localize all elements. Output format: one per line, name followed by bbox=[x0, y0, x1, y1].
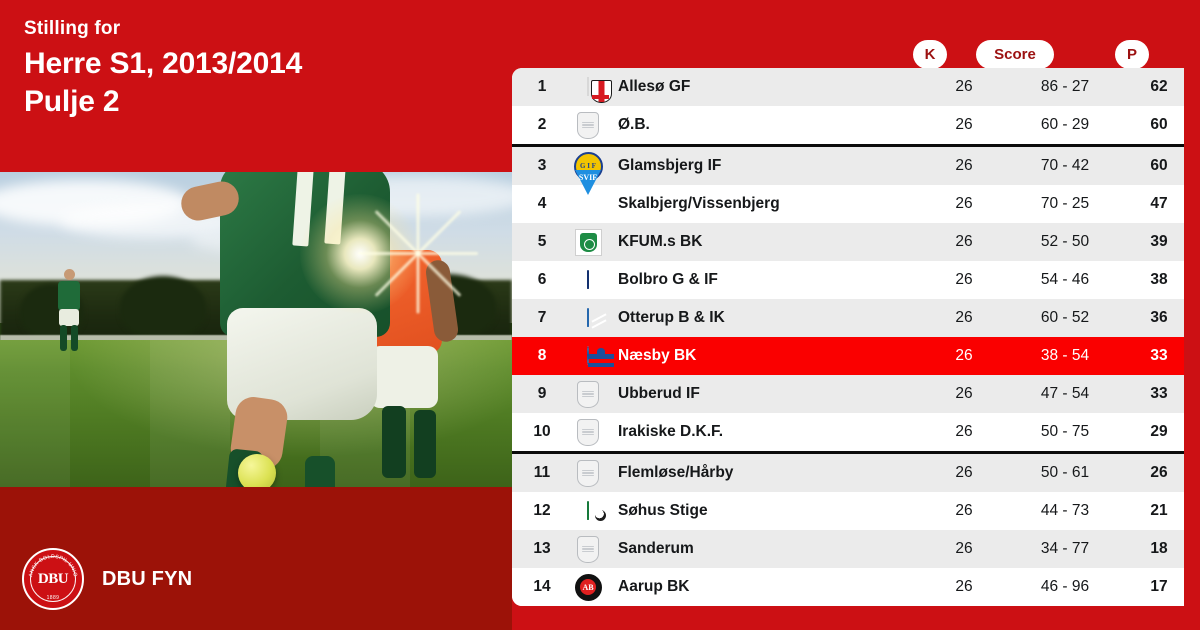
row-position: 1 bbox=[512, 68, 566, 106]
standings-body: 1Allesø GF2686 - 27622Ø.B.2660 - 29603G … bbox=[512, 68, 1184, 606]
row-score: 70 - 42 bbox=[1010, 146, 1120, 186]
dbu-logo-icon: DANSK BOLDSPIL UNION DBU 1889 bbox=[22, 548, 84, 610]
row-points: 39 bbox=[1120, 223, 1184, 261]
placeholder-crest bbox=[577, 536, 599, 563]
brand-logo-row: DANSK BOLDSPIL UNION DBU 1889 DBU FYN bbox=[22, 548, 192, 610]
logo-year: 1889 bbox=[24, 595, 82, 601]
row-team-name: Otterup B & IK bbox=[610, 299, 918, 337]
row-points: 60 bbox=[1120, 106, 1184, 146]
row-score: 52 - 50 bbox=[1010, 223, 1120, 261]
row-team-name: KFUM.s BK bbox=[610, 223, 918, 261]
row-score: 60 - 29 bbox=[1010, 106, 1120, 146]
table-row[interactable]: 14ABAarup BK2646 - 9617 bbox=[512, 568, 1184, 606]
player-shirt bbox=[58, 281, 80, 311]
row-matches: 26 bbox=[918, 68, 1010, 106]
background-player bbox=[52, 267, 86, 353]
placeholder-crest bbox=[577, 112, 599, 139]
row-matches: 26 bbox=[918, 261, 1010, 299]
brand-name: DBU FYN bbox=[102, 568, 192, 591]
left-pane: Stilling for Herre S1, 2013/2014 Pulje 2 bbox=[0, 0, 512, 630]
row-team-name: Næsby BK bbox=[610, 337, 918, 375]
bolbro-crest bbox=[587, 270, 589, 289]
page-title-line1: Herre S1, 2013/2014 bbox=[24, 45, 494, 83]
svg-text:DANSK BOLDSPIL UNION: DANSK BOLDSPIL UNION bbox=[24, 550, 78, 577]
row-matches: 26 bbox=[918, 223, 1010, 261]
row-crest bbox=[566, 453, 610, 493]
row-score: 86 - 27 bbox=[1010, 68, 1120, 106]
skalbjerg-crest: SVIF bbox=[575, 170, 601, 212]
row-team-name: Irakiske D.K.F. bbox=[610, 413, 918, 453]
row-score: 54 - 46 bbox=[1010, 261, 1120, 299]
row-points: 38 bbox=[1120, 261, 1184, 299]
row-team-name: Allesø GF bbox=[610, 68, 918, 106]
table-row[interactable]: 6Bolbro G & IF2654 - 4638 bbox=[512, 261, 1184, 299]
row-matches: 26 bbox=[918, 530, 1010, 568]
row-crest bbox=[566, 530, 610, 568]
player-leg bbox=[71, 325, 78, 351]
kfum-crest bbox=[575, 229, 602, 256]
row-team-name: Flemløse/Hårby bbox=[610, 453, 918, 493]
table-row[interactable]: 13Sanderum2634 - 7718 bbox=[512, 530, 1184, 568]
row-points: 33 bbox=[1120, 375, 1184, 413]
row-matches: 26 bbox=[918, 375, 1010, 413]
row-position: 6 bbox=[512, 261, 566, 299]
row-crest bbox=[566, 299, 610, 337]
row-matches: 26 bbox=[918, 337, 1010, 375]
row-team-name: Sanderum bbox=[610, 530, 918, 568]
row-points: 33 bbox=[1120, 337, 1184, 375]
row-matches: 26 bbox=[918, 106, 1010, 146]
row-matches: 26 bbox=[918, 492, 1010, 530]
player-head bbox=[64, 269, 75, 280]
row-score: 44 - 73 bbox=[1010, 492, 1120, 530]
row-crest bbox=[566, 223, 610, 261]
standings-table: 1Allesø GF2686 - 27622Ø.B.2660 - 29603G … bbox=[512, 68, 1184, 606]
table-row[interactable]: 7Otterup B & IK2660 - 5236 bbox=[512, 299, 1184, 337]
row-position: 9 bbox=[512, 375, 566, 413]
row-points: 18 bbox=[1120, 530, 1184, 568]
row-points: 29 bbox=[1120, 413, 1184, 453]
row-position: 3 bbox=[512, 146, 566, 186]
row-crest bbox=[566, 492, 610, 530]
row-team-name: Skalbjerg/Vissenbjerg bbox=[610, 185, 918, 223]
table-row[interactable]: 8Næsby BK2638 - 5433 bbox=[512, 337, 1184, 375]
row-position: 10 bbox=[512, 413, 566, 453]
placeholder-crest bbox=[577, 460, 599, 487]
row-score: 60 - 52 bbox=[1010, 299, 1120, 337]
table-row[interactable]: 2Ø.B.2660 - 2960 bbox=[512, 106, 1184, 146]
row-crest: AB bbox=[566, 568, 610, 606]
player-sock bbox=[305, 456, 335, 487]
row-crest bbox=[566, 68, 610, 106]
row-matches: 26 bbox=[918, 299, 1010, 337]
row-matches: 26 bbox=[918, 453, 1010, 493]
row-matches: 26 bbox=[918, 185, 1010, 223]
row-team-name: Ubberud IF bbox=[610, 375, 918, 413]
row-crest bbox=[566, 106, 610, 146]
row-position: 12 bbox=[512, 492, 566, 530]
row-position: 8 bbox=[512, 337, 566, 375]
row-crest bbox=[566, 261, 610, 299]
placeholder-crest bbox=[577, 381, 599, 408]
row-position: 13 bbox=[512, 530, 566, 568]
row-points: 47 bbox=[1120, 185, 1184, 223]
row-crest: SVIF bbox=[566, 185, 610, 223]
otterup-crest bbox=[587, 308, 589, 327]
row-matches: 26 bbox=[918, 568, 1010, 606]
row-matches: 26 bbox=[918, 413, 1010, 453]
aarup-crest: AB bbox=[575, 574, 602, 601]
sohus-crest bbox=[587, 501, 589, 520]
table-row[interactable]: 3G I FGlamsbjerg IF2670 - 4260 bbox=[512, 146, 1184, 186]
row-points: 17 bbox=[1120, 568, 1184, 606]
standings-table-wrapper: 1Allesø GF2686 - 27622Ø.B.2660 - 29603G … bbox=[512, 68, 1184, 606]
table-header-badges: K Score P bbox=[512, 40, 1184, 70]
row-points: 26 bbox=[1120, 453, 1184, 493]
row-crest bbox=[566, 337, 610, 375]
row-score: 38 - 54 bbox=[1010, 337, 1120, 375]
row-score: 50 - 75 bbox=[1010, 413, 1120, 453]
header-badge-score: Score bbox=[976, 40, 1054, 69]
player-leg bbox=[60, 325, 67, 351]
table-row[interactable]: 12Søhus Stige2644 - 7321 bbox=[512, 492, 1184, 530]
naesby-crest bbox=[587, 346, 589, 365]
row-position: 7 bbox=[512, 299, 566, 337]
title-block: Stilling for Herre S1, 2013/2014 Pulje 2 bbox=[24, 18, 494, 122]
table-row[interactable]: 11Flemløse/Hårby2650 - 6126 bbox=[512, 453, 1184, 493]
row-team-name: Ø.B. bbox=[610, 106, 918, 146]
row-position: 4 bbox=[512, 185, 566, 223]
row-score: 46 - 96 bbox=[1010, 568, 1120, 606]
row-position: 5 bbox=[512, 223, 566, 261]
football-photo bbox=[0, 172, 512, 487]
row-position: 14 bbox=[512, 568, 566, 606]
row-team-name: Søhus Stige bbox=[610, 492, 918, 530]
row-crest bbox=[566, 413, 610, 453]
logo-arc-label: DANSK BOLDSPIL UNION bbox=[24, 550, 78, 577]
page-title-line2: Pulje 2 bbox=[24, 83, 494, 121]
row-matches: 26 bbox=[918, 146, 1010, 186]
table-row[interactable]: 4SVIFSkalbjerg/Vissenbjerg2670 - 2547 bbox=[512, 185, 1184, 223]
row-position: 2 bbox=[512, 106, 566, 146]
row-points: 60 bbox=[1120, 146, 1184, 186]
row-score: 34 - 77 bbox=[1010, 530, 1120, 568]
player-shorts bbox=[59, 309, 79, 326]
table-row[interactable]: 1Allesø GF2686 - 2762 bbox=[512, 68, 1184, 106]
row-points: 21 bbox=[1120, 492, 1184, 530]
row-score: 50 - 61 bbox=[1010, 453, 1120, 493]
header-badge-points: P bbox=[1115, 40, 1149, 69]
row-team-name: Glamsbjerg IF bbox=[610, 146, 918, 186]
table-row[interactable]: 9Ubberud IF2647 - 5433 bbox=[512, 375, 1184, 413]
poster-canvas: Stilling for Herre S1, 2013/2014 Pulje 2 bbox=[0, 0, 1200, 630]
header-badge-matches: K bbox=[913, 40, 947, 69]
row-position: 11 bbox=[512, 453, 566, 493]
football-ball bbox=[238, 454, 276, 487]
row-score: 47 - 54 bbox=[1010, 375, 1120, 413]
placeholder-crest bbox=[577, 419, 599, 446]
row-points: 36 bbox=[1120, 299, 1184, 337]
row-team-name: Bolbro G & IF bbox=[610, 261, 918, 299]
alleso-crest bbox=[587, 77, 589, 96]
page-kicker: Stilling for bbox=[24, 18, 494, 41]
row-points: 62 bbox=[1120, 68, 1184, 106]
table-row[interactable]: 5KFUM.s BK2652 - 5039 bbox=[512, 223, 1184, 261]
row-team-name: Aarup BK bbox=[610, 568, 918, 606]
table-row[interactable]: 10Irakiske D.K.F.2650 - 7529 bbox=[512, 413, 1184, 453]
row-crest bbox=[566, 375, 610, 413]
row-score: 70 - 25 bbox=[1010, 185, 1120, 223]
